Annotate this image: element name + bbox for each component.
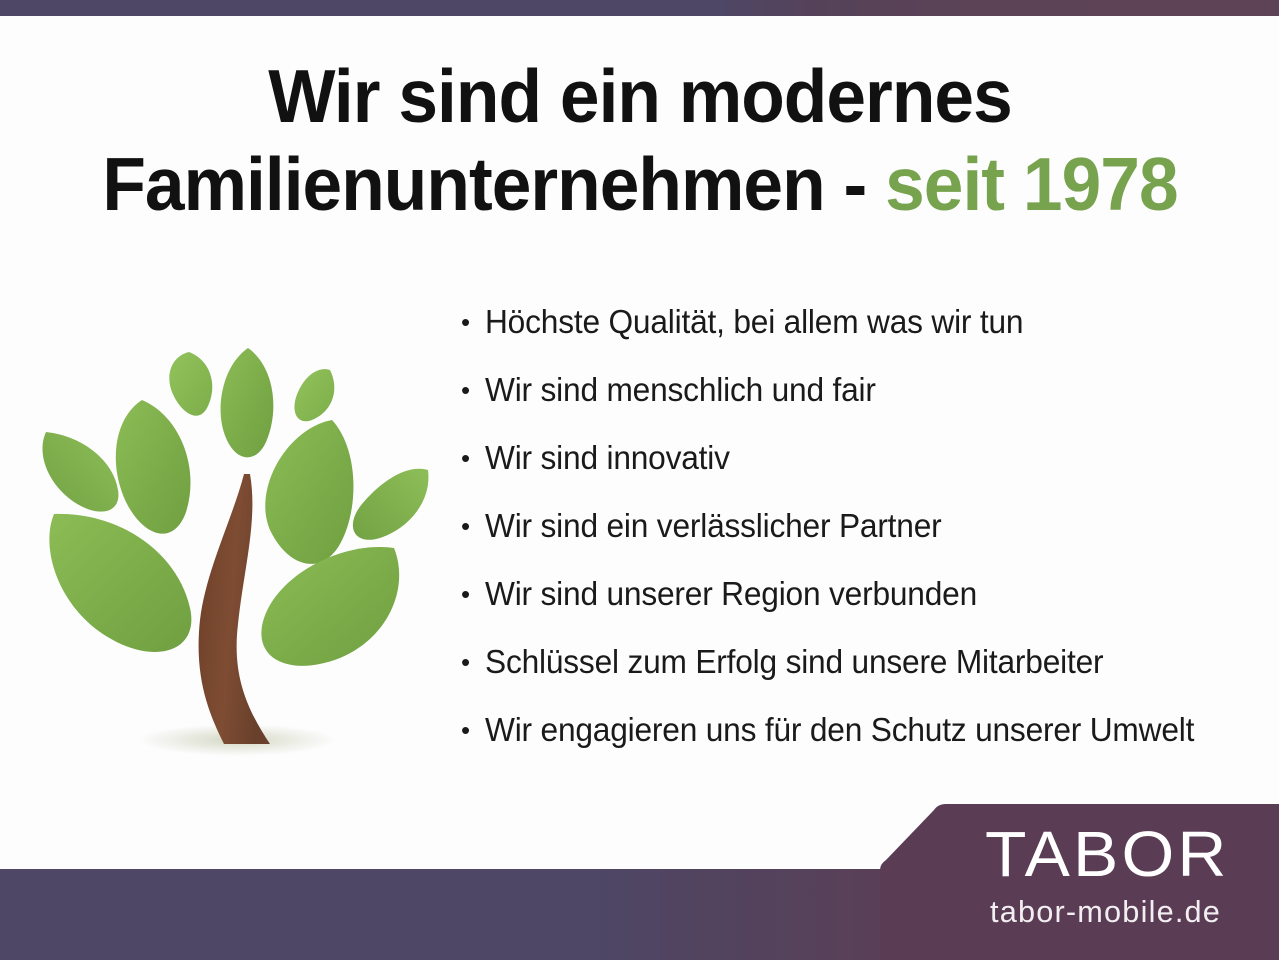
tree-logo-illustration [32,332,442,762]
leaf-lower-left-large [49,514,191,652]
bullet-marker-icon: • [455,640,485,684]
page-title: Wir sind ein modernes Familienunternehme… [80,52,1201,228]
top-brand-bar [0,0,1279,16]
leaf-left-upper [116,400,191,534]
list-item-label: Wir sind unserer Region verbunden [485,572,977,616]
list-item-label: Wir sind ein verlässlicher Partner [485,504,942,548]
bullet-marker-icon: • [455,300,485,344]
slide-canvas: Wir sind ein modernes Familienunternehme… [0,0,1279,960]
headline-accent-text: seit 1978 [885,142,1178,226]
headline-line-1: Wir sind ein modernes [80,52,1201,140]
bullet-marker-icon: • [455,436,485,480]
list-item-label: Wir sind menschlich und fair [485,368,876,412]
headline-line-2: Familienunternehmen - seit 1978 [80,140,1201,228]
list-item: • Wir sind unserer Region verbunden [455,572,1265,640]
list-item: • Wir sind ein verlässlicher Partner [455,504,1265,572]
leaf-lower-right-large [261,547,399,666]
tree-trunk [199,474,270,744]
bullet-marker-icon: • [455,572,485,616]
bullet-marker-icon: • [455,708,485,752]
brand-logo-panel[interactable]: TABOR tabor-mobile.de [880,800,1279,960]
headline-line-1-text: Wir sind ein modernes [268,54,1012,138]
bullet-marker-icon: • [455,368,485,412]
leaf-upper-left-small [169,352,212,416]
list-item-label: Wir sind innovativ [485,436,730,480]
logo-wordmark: TABOR [985,822,1230,886]
leaf-upper-right-small [294,369,334,421]
bullet-marker-icon: • [455,504,485,548]
list-item: • Wir sind innovativ [455,436,1265,504]
list-item-label: Wir engagieren uns für den Schutz unsere… [485,708,1194,752]
leaf-far-left [42,432,118,512]
list-item: • Schlüssel zum Erfolg sind unsere Mitar… [455,640,1265,708]
list-item: • Wir engagieren uns für den Schutz unse… [455,708,1265,776]
leaf-far-right [353,469,429,540]
list-item: • Höchste Qualität, bei allem was wir tu… [455,300,1265,368]
headline-line-2-text: Familienunternehmen - [102,142,885,226]
list-item-label: Schlüssel zum Erfolg sind unsere Mitarbe… [485,640,1103,684]
leaf-top-center [221,348,274,457]
benefits-list: • Höchste Qualität, bei allem was wir tu… [455,300,1265,776]
list-item: • Wir sind menschlich und fair [455,368,1265,436]
list-item-label: Höchste Qualität, bei allem was wir tun [485,300,1023,344]
logo-website-label: tabor-mobile.de [990,895,1221,929]
leaf-right-upper [265,420,353,564]
